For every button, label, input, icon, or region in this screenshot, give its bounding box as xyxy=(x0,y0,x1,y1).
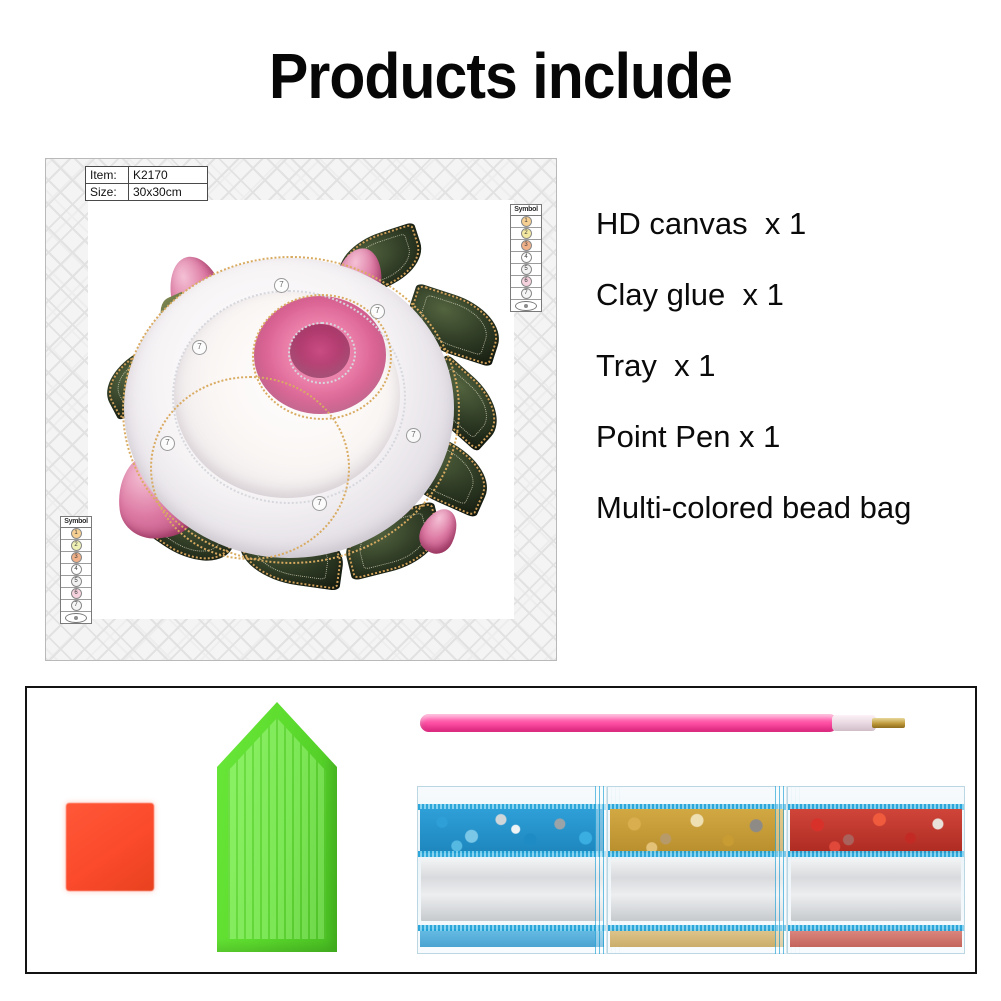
item-value: K2170 xyxy=(129,167,208,184)
symbol-dot-1: 1 xyxy=(71,528,82,539)
accessories-panel xyxy=(25,686,977,974)
bag-zip xyxy=(608,925,786,931)
symbol-legend-row: 2 xyxy=(511,228,541,240)
symbol-dot-4: 4 xyxy=(521,252,532,263)
symbol-legend-row: 7 xyxy=(61,600,91,612)
symbol-marker: 7 xyxy=(274,278,289,293)
bag-foil-label xyxy=(611,859,783,921)
symbol-legend-row xyxy=(511,300,541,311)
list-item: Multi-colored bead bag xyxy=(596,492,996,523)
bag-zip xyxy=(418,925,606,931)
page-title: Products include xyxy=(40,44,961,108)
symbol-dot-6: 6 xyxy=(521,276,532,287)
pen-barrel xyxy=(420,714,838,732)
symbol-dot-6: 6 xyxy=(71,588,82,599)
symbol-marker: 7 xyxy=(192,340,207,355)
list-item: Tray x 1 xyxy=(596,350,996,381)
symbol-dot-2: 2 xyxy=(71,540,82,551)
canvas-item-label: Item: K2170 Size: 30x30cm xyxy=(85,166,208,201)
clay-glue-product xyxy=(66,803,154,891)
products-include-list: HD canvas x 1 Clay glue x 1 Tray x 1 Poi… xyxy=(596,208,996,523)
symbol-dot-7: 7 xyxy=(521,288,532,299)
size-label-row: Size: 30x30cm xyxy=(86,184,208,201)
symbol-legend-bottom-left: Symbol 1 2 3 4 5 6 7 xyxy=(60,516,92,624)
symbol-legend-row: 4 xyxy=(61,564,91,576)
symbol-dot-4: 4 xyxy=(71,564,82,575)
symbol-legend-row xyxy=(61,612,91,623)
symbol-dot-3: 3 xyxy=(71,552,82,563)
bag-foil-label xyxy=(791,859,961,921)
point-pen-product xyxy=(420,710,905,736)
eye-shape-icon xyxy=(65,613,87,623)
item-label-row: Item: K2170 xyxy=(86,167,208,184)
bag-zip xyxy=(788,851,964,857)
size-key: Size: xyxy=(86,184,129,201)
symbol-legend-header: Symbol xyxy=(511,205,541,216)
bead-fill-gold-lower xyxy=(610,929,784,947)
pen-ferrule xyxy=(832,715,876,731)
bead-bag-red xyxy=(787,786,965,954)
bead-fill-red-lower xyxy=(790,929,962,947)
symbol-legend-top-right: Symbol 1 2 3 4 5 6 7 xyxy=(510,204,542,312)
eye-shape-icon xyxy=(515,301,537,311)
symbol-marker: 7 xyxy=(312,496,327,511)
bag-zip xyxy=(418,851,606,857)
symbol-legend-row: 3 xyxy=(511,240,541,252)
bead-bag-gold xyxy=(607,786,787,954)
list-item: Clay glue x 1 xyxy=(596,279,996,310)
symbol-legend-row: 6 xyxy=(61,588,91,600)
symbol-dot-2: 2 xyxy=(521,228,532,239)
symbol-legend-row: 2 xyxy=(61,540,91,552)
symbol-dot-7: 7 xyxy=(71,600,82,611)
symbol-dot-3: 3 xyxy=(521,240,532,251)
symbol-legend-row: 7 xyxy=(511,288,541,300)
symbol-legend-header: Symbol xyxy=(61,517,91,528)
canvas-artwork: 7 7 7 7 7 7 xyxy=(88,200,514,619)
bag-zip xyxy=(788,925,964,931)
bead-bag-product xyxy=(417,786,965,954)
symbol-legend-row: 5 xyxy=(61,576,91,588)
symbol-legend-row: 1 xyxy=(61,528,91,540)
tray-product xyxy=(217,702,337,952)
symbol-legend-row: 6 xyxy=(511,276,541,288)
symbol-dot-5: 5 xyxy=(521,264,532,275)
symbol-dot-5: 5 xyxy=(71,576,82,587)
bead-fill-blue xyxy=(420,809,604,853)
size-value: 30x30cm xyxy=(129,184,208,201)
symbol-legend-row: 3 xyxy=(61,552,91,564)
bead-fill-blue-lower xyxy=(420,929,604,947)
symbol-marker: 7 xyxy=(370,304,385,319)
symbol-legend-row: 1 xyxy=(511,216,541,228)
bag-foil-label xyxy=(421,859,603,921)
bead-bag-blue xyxy=(417,786,607,954)
bead-fill-gold xyxy=(610,809,784,853)
symbol-marker: 7 xyxy=(406,428,421,443)
symbol-legend-row: 5 xyxy=(511,264,541,276)
symbol-marker: 7 xyxy=(160,436,175,451)
symbol-legend-row: 4 xyxy=(511,252,541,264)
list-item: Point Pen x 1 xyxy=(596,421,996,452)
bag-zip xyxy=(608,851,786,857)
list-item: HD canvas x 1 xyxy=(596,208,996,239)
rose-center xyxy=(290,324,350,378)
item-key: Item: xyxy=(86,167,129,184)
symbol-dot-1: 1 xyxy=(521,216,532,227)
hd-canvas-product: 7 7 7 7 7 7 xyxy=(45,158,557,661)
pen-tip xyxy=(872,718,905,728)
bead-fill-red xyxy=(790,809,962,853)
